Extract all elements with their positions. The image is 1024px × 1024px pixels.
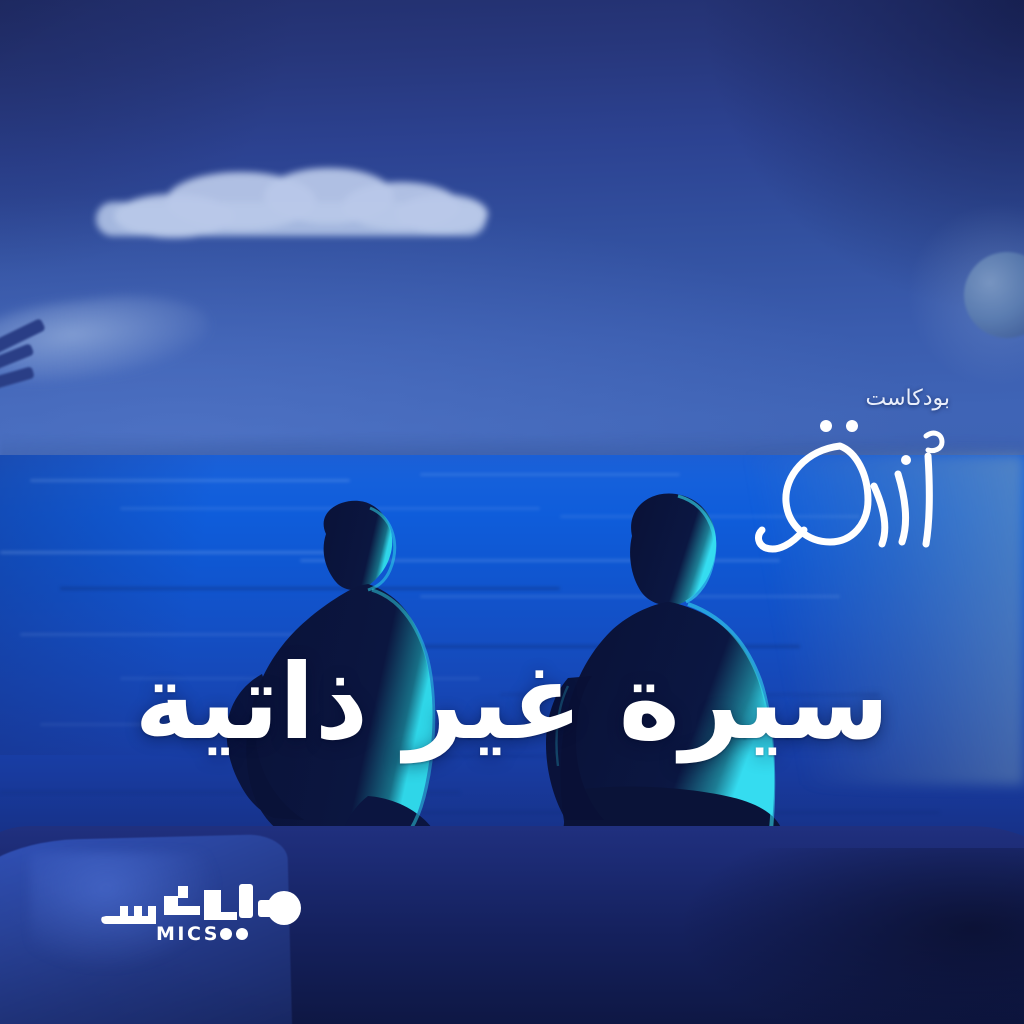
mics-network-logo[interactable]: MICS [100,884,315,946]
podcast-kicker-label: بودكاست [866,386,951,411]
mics-wordmark: MICS [156,923,220,945]
azraq-script-logo [748,412,968,562]
podcast-cover-art: بودكاست [0,0,1024,1024]
page-title: سيرة غير ذاتية [0,648,1024,757]
cloud-icon [96,168,486,240]
cliff-rock-shadow [684,848,1024,1024]
